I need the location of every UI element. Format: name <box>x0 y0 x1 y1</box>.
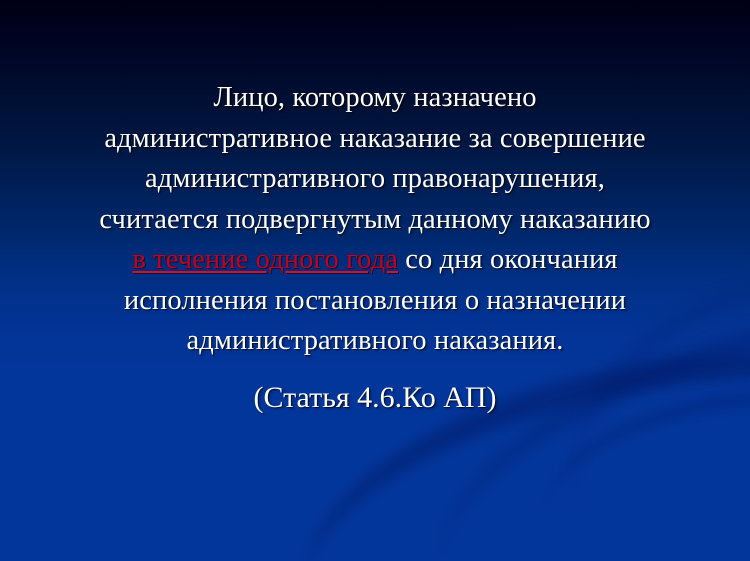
line-3: административного правонарушения, <box>0 159 750 200</box>
line-2: административное наказание за совершение <box>0 119 750 160</box>
text-segment: административное наказание за совершение <box>104 123 645 154</box>
line-5: в течение одного года со дня окончания <box>0 240 750 281</box>
text-segment: исполнения постановления о назначении <box>124 285 626 316</box>
line-6: исполнения постановления о назначении <box>0 281 750 322</box>
line-4: считается подвергнутым данному наказанию <box>0 200 750 241</box>
line-7: административного наказания. <box>0 321 750 362</box>
text-segment: Лицо, которому назначено <box>213 82 536 113</box>
text-segment: со дня окончания <box>398 244 618 275</box>
slide-citation: (Статья 4.6.Ко АП) <box>0 377 750 419</box>
slide-body-text: Лицо, которому назначеноадминистративное… <box>0 78 750 362</box>
presentation-slide: Лицо, которому назначеноадминистративное… <box>0 0 750 561</box>
line-1: Лицо, которому назначено <box>0 78 750 119</box>
text-segment: считается подвергнутым данному наказанию <box>99 204 650 235</box>
emphasised-text: в течение одного года <box>132 244 398 275</box>
text-segment: административного правонарушения, <box>145 163 605 194</box>
text-segment: административного наказания. <box>187 325 564 356</box>
